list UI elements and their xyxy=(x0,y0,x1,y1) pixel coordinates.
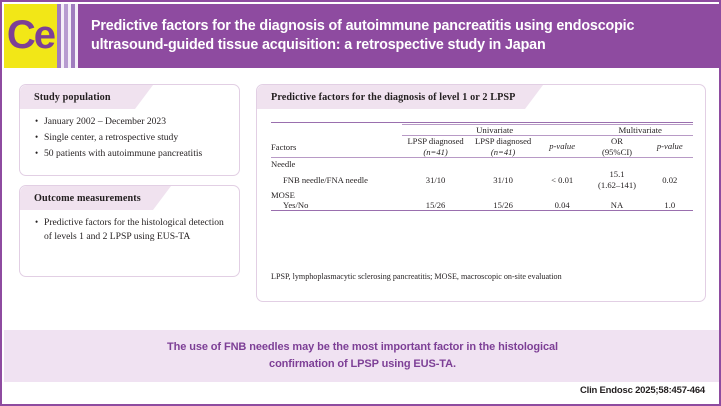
cell-univariate-1: 31/10 xyxy=(402,169,470,190)
table-row: FNB needle/FNA needle 31/10 31/10 < 0.01… xyxy=(271,169,693,190)
column-header-univariate-2-line1: LPSP diagnosed xyxy=(475,136,531,146)
group-label-mose: MOSE xyxy=(271,190,693,200)
results-table-wrapper: Univariate Multivariate Factors LPSP dia… xyxy=(271,122,693,212)
group-header-blank xyxy=(271,125,402,136)
results-table-tab-label: Predictive factors for the diagnosis of … xyxy=(271,92,516,103)
study-population-card: Study population January 2002 – December… xyxy=(19,84,240,176)
cell-multivariate-pvalue: 1.0 xyxy=(647,200,693,211)
results-table: Univariate Multivariate Factors LPSP dia… xyxy=(271,122,693,212)
conclusion-banner: The use of FNB needles may be the most i… xyxy=(4,330,721,382)
cell-odds-ratio-ci: (1.62–141) xyxy=(598,180,636,190)
article-title: Predictive factors for the diagnosis of … xyxy=(91,17,707,55)
results-table-card: Predictive factors for the diagnosis of … xyxy=(256,84,706,302)
table-rule-bottom xyxy=(271,211,693,213)
cell-multivariate-pvalue: 0.02 xyxy=(647,169,693,190)
outcome-measurements-tab: Outcome measurements xyxy=(20,186,153,210)
table-row: Yes/No 15/26 15/26 0.04 NA 1.0 xyxy=(271,200,693,211)
outcome-measurements-list: Predictive factors for the histological … xyxy=(20,216,239,246)
column-header-odds-ratio: OR (95%CI) xyxy=(587,136,646,158)
table-footnote: LPSP, lymphoplasmacytic sclerosing pancr… xyxy=(271,272,693,283)
conclusion-text: The use of FNB needles may be the most i… xyxy=(167,339,558,373)
journal-logo: Ce xyxy=(4,4,57,68)
column-header-univariate-1: LPSP diagnosed (n=41) xyxy=(402,136,470,158)
cell-univariate-2: 31/10 xyxy=(469,169,537,190)
group-label-needle: Needle xyxy=(271,159,693,169)
cell-odds-ratio: NA xyxy=(587,200,646,211)
logo-text: Ce xyxy=(7,15,54,55)
cell-univariate-2: 15/26 xyxy=(469,200,537,211)
results-table-tab: Predictive factors for the diagnosis of … xyxy=(257,85,525,109)
column-header-univariate-pvalue: p-value xyxy=(537,136,588,158)
column-header-odds-ratio-line1: OR xyxy=(611,136,623,146)
citation-text: Clin Endosc 2025;58:457-464 xyxy=(580,385,705,396)
graphical-abstract-page: Ce Predictive factors for the diagnosis … xyxy=(0,0,721,406)
cell-univariate-pvalue: 0.04 xyxy=(537,200,588,211)
column-header-odds-ratio-line2: (95%CI) xyxy=(602,147,632,157)
study-population-tab: Study population xyxy=(20,85,135,109)
outcome-measurements-card: Outcome measurements Predictive factors … xyxy=(19,185,240,277)
column-header-univariate-1-line1: LPSP diagnosed xyxy=(407,136,463,146)
cell-univariate-pvalue: < 0.01 xyxy=(537,169,588,190)
list-item: 50 patients with autoimmune pancreatitis xyxy=(44,147,229,161)
content-area: Study population January 2002 – December… xyxy=(4,68,721,322)
cell-factor: Yes/No xyxy=(271,200,402,211)
group-header-univariate: Univariate xyxy=(402,125,588,136)
list-item: Predictive factors for the histological … xyxy=(44,216,229,244)
list-item: Single center, a retrospective study xyxy=(44,131,229,145)
table-column-header-row: Factors LPSP diagnosed (n=41) LPSP diagn… xyxy=(271,136,693,158)
cell-odds-ratio-value: 15.1 xyxy=(609,169,624,179)
group-header-multivariate: Multivariate xyxy=(587,125,693,136)
column-header-factors: Factors xyxy=(271,136,402,158)
study-population-tab-label: Study population xyxy=(34,92,111,103)
column-header-multivariate-pvalue: p-value xyxy=(647,136,693,158)
title-container: Predictive factors for the diagnosis of … xyxy=(78,4,721,68)
outcome-measurements-tab-label: Outcome measurements xyxy=(34,193,141,204)
table-group-header-row: Univariate Multivariate xyxy=(271,125,693,136)
column-header-univariate-2: LPSP diagnosed (n=41) xyxy=(469,136,537,158)
cell-univariate-1: 15/26 xyxy=(402,200,470,211)
column-header-univariate-2-line2: (n=41) xyxy=(491,147,515,157)
header-banner: Ce Predictive factors for the diagnosis … xyxy=(4,4,721,68)
column-header-univariate-1-line2: (n=41) xyxy=(423,147,447,157)
conclusion-line-2: confirmation of LPSP using EUS-TA. xyxy=(269,358,456,370)
table-group-row: Needle xyxy=(271,159,693,169)
conclusion-line-1: The use of FNB needles may be the most i… xyxy=(167,341,558,353)
cell-factor: FNB needle/FNA needle xyxy=(271,169,402,190)
table-group-row: MOSE xyxy=(271,190,693,200)
study-population-list: January 2002 – December 2023 Single cent… xyxy=(20,115,239,163)
cell-odds-ratio: 15.1 (1.62–141) xyxy=(587,169,646,190)
list-item: January 2002 – December 2023 xyxy=(44,115,229,129)
logo-stripes-decoration xyxy=(57,4,78,68)
